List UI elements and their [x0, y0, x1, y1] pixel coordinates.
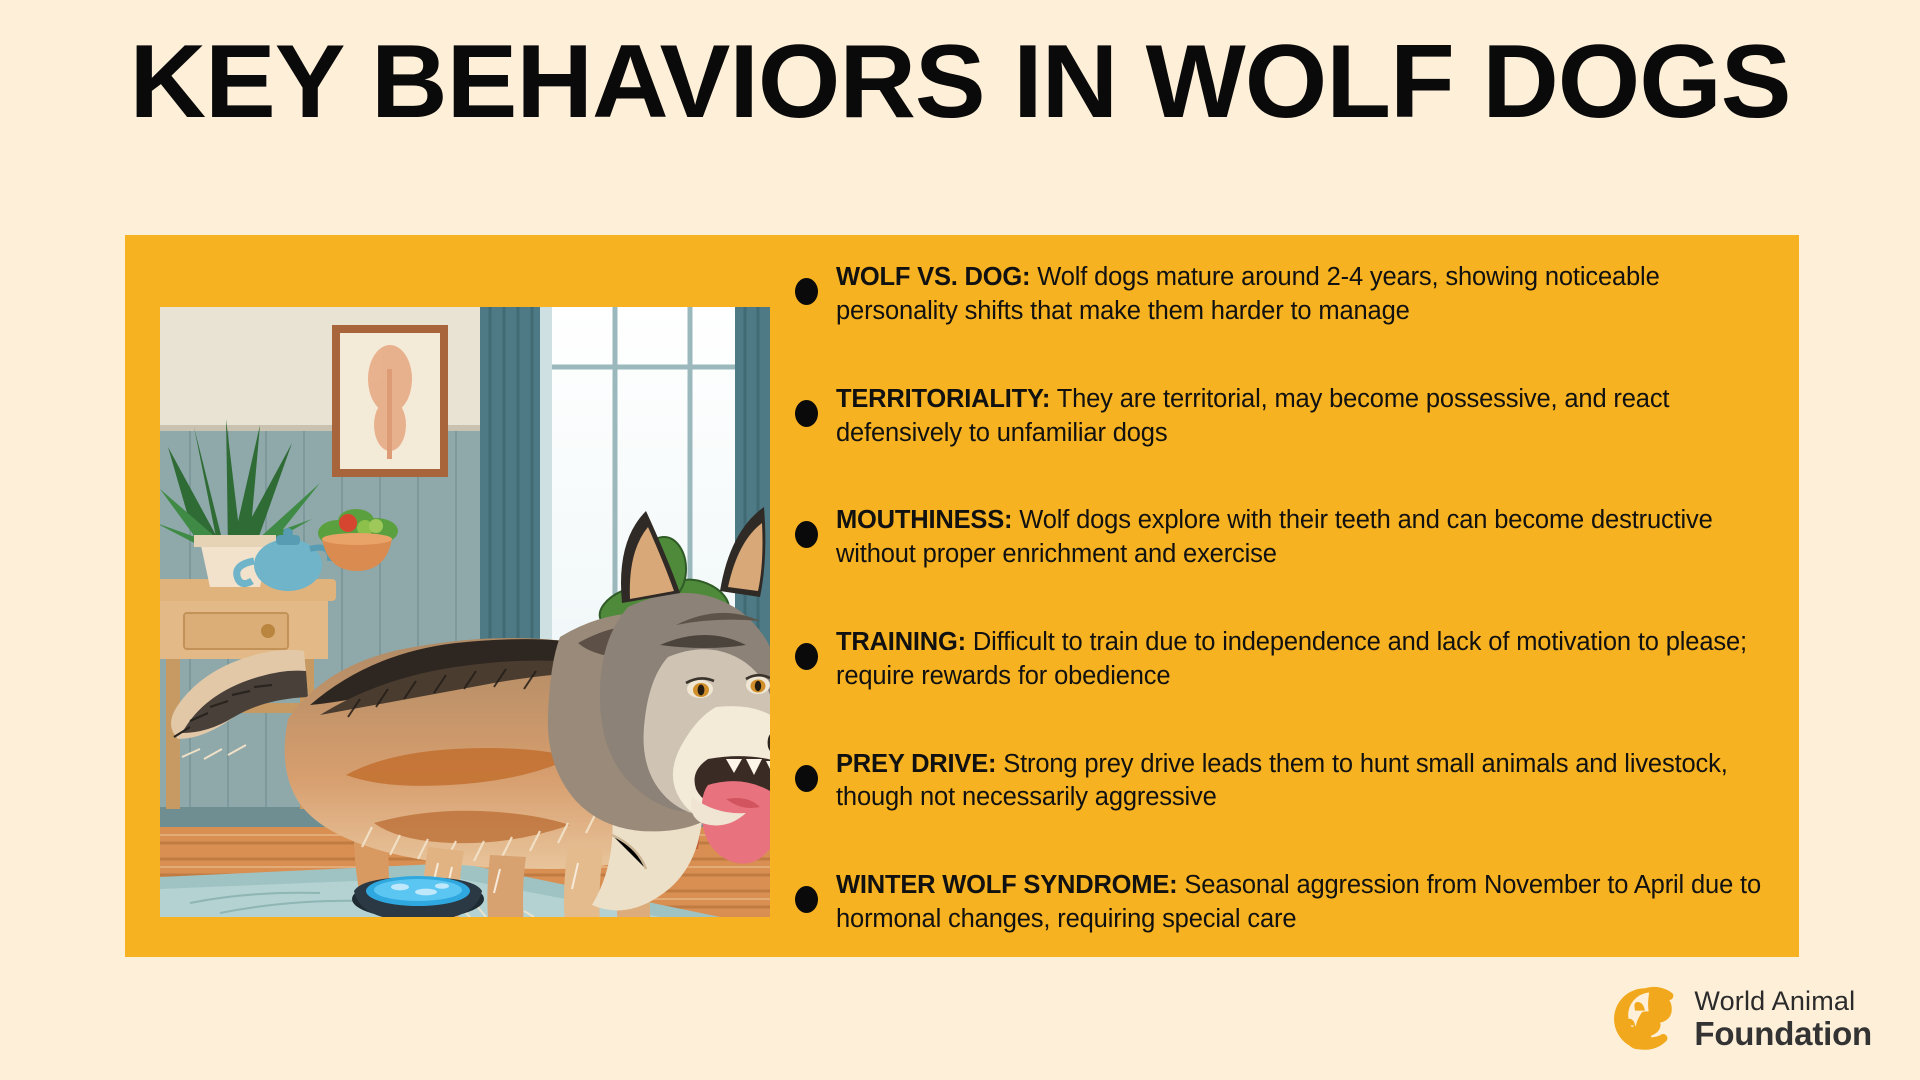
- page-title: KEY BEHAVIORS IN WOLF DOGS: [0, 28, 1920, 137]
- list-item-text: TRAINING: Difficult to train due to inde…: [836, 626, 1761, 694]
- behavior-list: WOLF VS. DOG: Wolf dogs mature around 2-…: [795, 255, 1775, 945]
- list-item-text: MOUTHINESS: Wolf dogs explore with their…: [836, 504, 1761, 572]
- list-item-label: TERRITORIALITY:: [836, 385, 1050, 413]
- list-item: WINTER WOLF SYNDROME: Seasonal aggressio…: [795, 869, 1775, 937]
- list-item-text: WINTER WOLF SYNDROME: Seasonal aggressio…: [836, 869, 1761, 937]
- list-item: WOLF VS. DOG: Wolf dogs mature around 2-…: [795, 261, 1775, 329]
- list-item-text: WOLF VS. DOG: Wolf dogs mature around 2-…: [836, 261, 1761, 329]
- content-panel: WOLF VS. DOG: Wolf dogs mature around 2-…: [125, 235, 1799, 957]
- list-item: TRAINING: Difficult to train due to inde…: [795, 626, 1775, 694]
- list-item-label: MOUTHINESS:: [836, 506, 1012, 534]
- list-item: TERRITORIALITY: They are territorial, ma…: [795, 383, 1775, 451]
- list-item-label: TRAINING:: [836, 628, 966, 656]
- list-item-body: Difficult to train due to independence a…: [836, 628, 1747, 690]
- bullet-dot-icon: [795, 521, 818, 548]
- bullet-dot-icon: [795, 886, 818, 913]
- list-item-label: PREY DRIVE:: [836, 750, 996, 778]
- wolf-dog-illustration: [160, 307, 770, 917]
- bullet-dot-icon: [795, 278, 818, 305]
- list-item: MOUTHINESS: Wolf dogs explore with their…: [795, 504, 1775, 572]
- logo-line-2: Foundation: [1694, 1017, 1872, 1050]
- bullet-dot-icon: [795, 400, 818, 427]
- bullet-dot-icon: [795, 765, 818, 792]
- world-animal-foundation-logo: World Animal Foundation: [1610, 984, 1872, 1054]
- logo-wordmark: World Animal Foundation: [1694, 988, 1872, 1050]
- world-animal-foundation-mark-icon: [1610, 984, 1680, 1054]
- list-item-label: WINTER WOLF SYNDROME:: [836, 871, 1177, 899]
- bullet-dot-icon: [795, 643, 818, 670]
- list-item-text: TERRITORIALITY: They are territorial, ma…: [836, 383, 1761, 451]
- list-item: PREY DRIVE: Strong prey drive leads them…: [795, 748, 1775, 816]
- logo-line-1: World Animal: [1694, 988, 1872, 1015]
- list-item-label: WOLF VS. DOG:: [836, 263, 1030, 291]
- list-item-text: PREY DRIVE: Strong prey drive leads them…: [836, 748, 1761, 816]
